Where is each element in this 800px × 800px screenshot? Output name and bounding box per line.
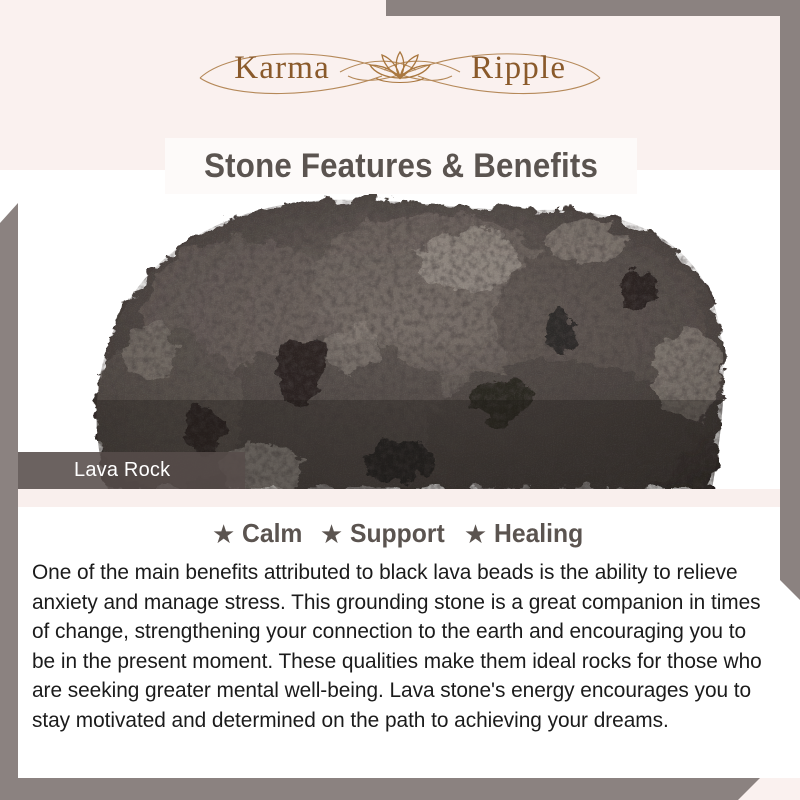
star-icon: ★ — [464, 521, 487, 547]
frame-top-right — [386, 0, 800, 16]
frame-right — [780, 0, 800, 600]
benefits-row: ★ Calm ★ Support ★ Healing — [0, 518, 800, 549]
star-icon: ★ — [320, 521, 343, 547]
content-panel: ★ Calm ★ Support ★ Healing One of the ma… — [0, 507, 800, 778]
star-icon: ★ — [212, 521, 235, 547]
photo-caption-label: Lava Rock — [18, 459, 170, 482]
photo-caption-bar: Lava Rock — [18, 452, 245, 489]
frame-left — [0, 203, 18, 800]
brand-name-left: Karma — [234, 50, 330, 86]
benefit-label-support: Support — [350, 518, 445, 549]
page-title: Stone Features & Benefits — [204, 147, 598, 186]
benefit-label-calm: Calm — [242, 518, 302, 549]
brand-logo: Karma Ripple — [0, 40, 800, 100]
benefit-item: ★ Support — [320, 518, 450, 549]
benefit-item: ★ Calm — [212, 518, 306, 549]
body-paragraph: One of the main benefits attributed to b… — [0, 558, 776, 735]
brand-name-right: Ripple — [471, 50, 566, 86]
benefit-item: ★ Healing — [464, 518, 588, 549]
benefit-label-healing: Healing — [494, 518, 583, 549]
frame-bottom — [0, 778, 760, 800]
lava-rock-illustration — [0, 170, 800, 489]
logo-artwork: Karma Ripple — [190, 38, 610, 102]
accent-strip — [0, 489, 800, 507]
lava-rock-photo — [0, 170, 800, 489]
brand-header: Karma Ripple — [0, 0, 800, 130]
infographic-card: Karma Ripple — [0, 0, 800, 800]
title-banner: Stone Features & Benefits — [165, 138, 637, 194]
